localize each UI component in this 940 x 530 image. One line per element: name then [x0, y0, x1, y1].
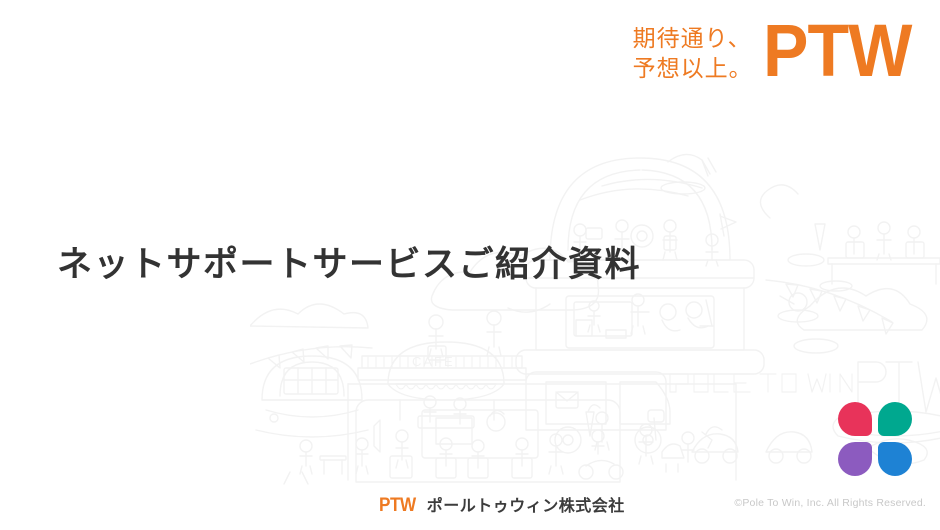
- copyright-notice: ©Pole To Win, Inc. All Rights Reserved.: [734, 497, 926, 509]
- footer-ptw-wordmark: PTW: [379, 495, 416, 517]
- title-slide: CAFE: [0, 0, 940, 530]
- footer-company-name: ポールトゥウィン株式会社: [427, 492, 625, 516]
- left-gradient-bar: [0, 0, 8, 530]
- brand-tagline-line1: 期待通り、: [633, 23, 753, 53]
- svg-text:CAFE: CAFE: [412, 354, 455, 369]
- clover-petal-top-left: [838, 402, 872, 436]
- footer-brand: PTW ポールトゥウィン株式会社: [377, 492, 625, 517]
- clover-petal-bottom-left: [838, 442, 872, 476]
- brand-tagline: 期待通り、 予想以上。: [633, 23, 753, 83]
- background-illustration: CAFE: [250, 100, 940, 500]
- ptw-clover-logo: [838, 402, 912, 476]
- clover-petal-top-right: [878, 402, 912, 436]
- page-title: ネットサポートサービスご紹介資料: [57, 236, 641, 287]
- brand-lockup: 期待通り、 予想以上。 PTW: [633, 14, 924, 92]
- ptw-wordmark: PTW: [763, 14, 911, 92]
- clover-petal-bottom-right: [878, 442, 912, 476]
- brand-tagline-line2: 予想以上。: [633, 53, 753, 83]
